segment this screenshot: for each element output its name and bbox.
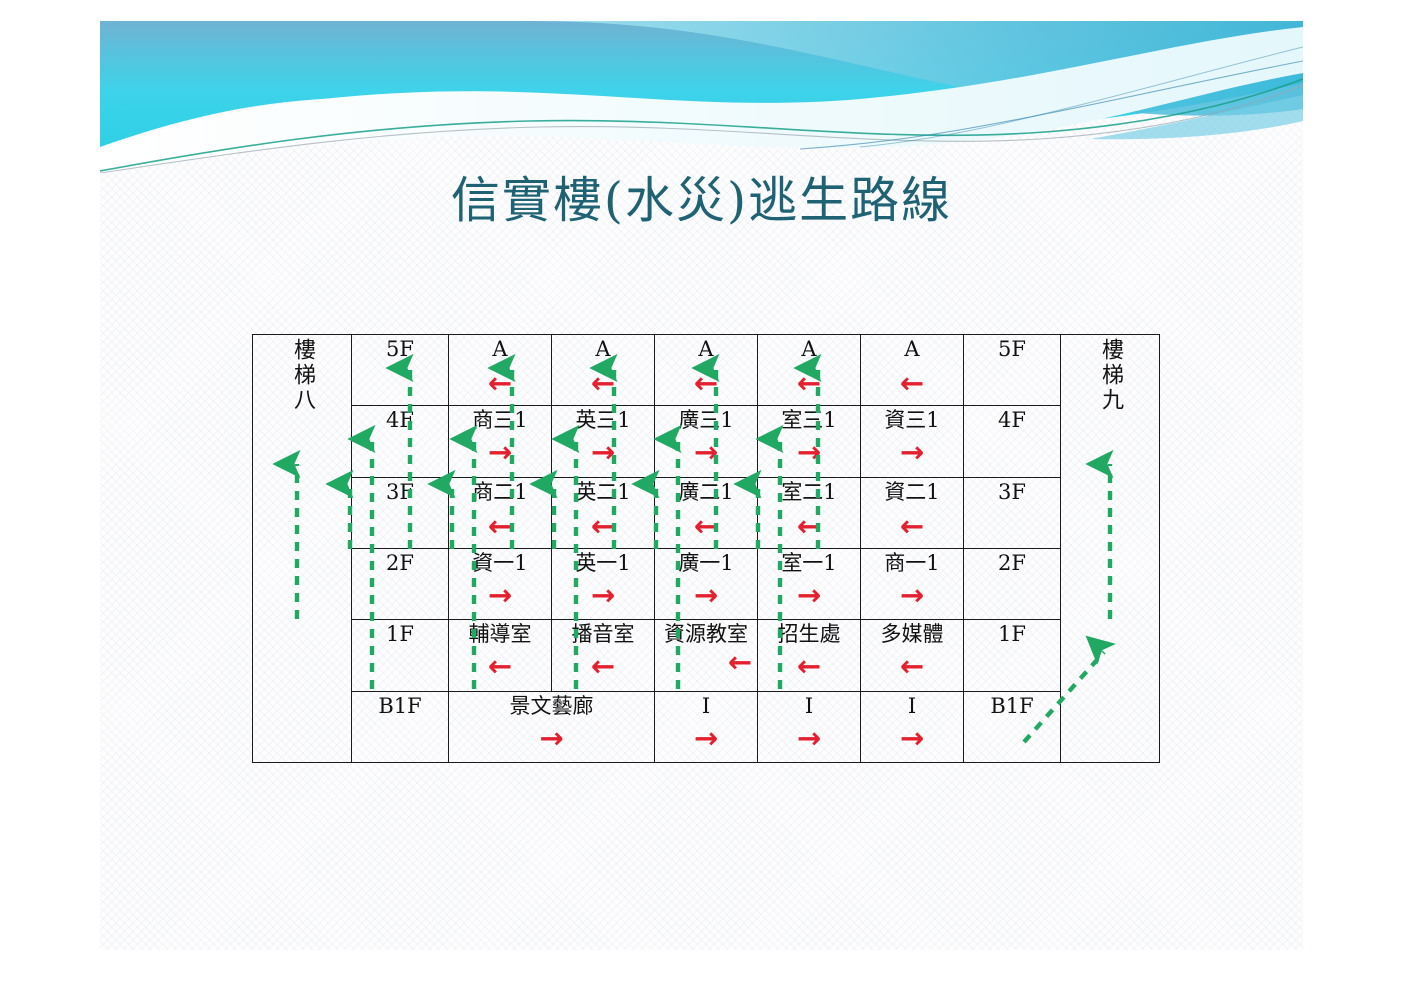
red-arrow-right: → bbox=[552, 581, 654, 610]
floor-label-right-2f: 2F bbox=[964, 548, 1061, 619]
room-cell-4f-3: 廣三1 → bbox=[655, 406, 758, 477]
red-arrow-right: → bbox=[449, 438, 551, 467]
red-arrow-right: → bbox=[861, 438, 963, 467]
room-cell-3f-4: 室二1 ← bbox=[758, 477, 861, 548]
red-arrow-right: → bbox=[861, 581, 963, 610]
red-arrow-left: ← bbox=[861, 512, 963, 541]
room-cell-3f-1: 商二1 ← bbox=[449, 477, 552, 548]
red-arrow-right: → bbox=[655, 438, 757, 467]
room-cell-4f-1: 商三1 → bbox=[449, 406, 552, 477]
table-row: 3F 商二1 ← 英二1 ← 廣二1 ← 室二1 bbox=[253, 477, 1160, 548]
room-cell-5f-1: A ← bbox=[449, 335, 552, 406]
floor-label-right-5f: 5F bbox=[964, 335, 1061, 406]
table-row: B1F 景文藝廊 → I → I → I bbox=[253, 691, 1160, 762]
room-cell-b1f-gallery: 景文藝廊 → bbox=[449, 691, 655, 762]
room-cell-1f-3: 資源教室 ← bbox=[655, 620, 758, 691]
floor-label-left-b1f: B1F bbox=[352, 691, 449, 762]
header-banner-decoration bbox=[100, 21, 1303, 173]
room-cell-1f-2: 播音室 ← bbox=[552, 620, 655, 691]
floor-label-left-1f: 1F bbox=[352, 620, 449, 691]
red-arrow-left: ← bbox=[861, 652, 963, 681]
page-title: 信實樓(水災)逃生路線 bbox=[100, 161, 1303, 232]
red-arrow-right: → bbox=[758, 438, 860, 467]
room-cell-1f-4: 招生處 ← bbox=[758, 620, 861, 691]
red-arrow-left: ← bbox=[552, 652, 654, 681]
red-arrow-right: → bbox=[552, 438, 654, 467]
room-cell-3f-2: 英二1 ← bbox=[552, 477, 655, 548]
room-cell-5f-3: A ← bbox=[655, 335, 758, 406]
right-stairwell-cell: 樓梯九 bbox=[1061, 335, 1160, 763]
room-cell-2f-3: 廣一1 → bbox=[655, 548, 758, 619]
room-cell-3f-5: 資二1 ← bbox=[861, 477, 964, 548]
escape-route-table-container: 樓梯八 5F A ← A ← A ← bbox=[252, 334, 1152, 763]
table-row: 2F 資一1 → 英一1 → 廣一1 → 室一1 bbox=[253, 548, 1160, 619]
floor-label-right-4f: 4F bbox=[964, 406, 1061, 477]
red-arrow-left: ← bbox=[758, 512, 860, 541]
left-stairwell-label: 樓梯八 bbox=[286, 338, 318, 413]
red-arrow-right: → bbox=[758, 581, 860, 610]
room-cell-2f-2: 英一1 → bbox=[552, 548, 655, 619]
room-cell-1f-1: 輔導室 ← bbox=[449, 620, 552, 691]
red-arrow-left: ← bbox=[552, 369, 654, 398]
red-arrow-left: ← bbox=[655, 369, 757, 398]
room-cell-5f-5: A ← bbox=[861, 335, 964, 406]
table-row: 4F 商三1 → 英三1 → 廣三1 → 室三1 bbox=[253, 406, 1160, 477]
right-stairwell-label: 樓梯九 bbox=[1094, 338, 1126, 413]
floor-label-left-2f: 2F bbox=[352, 548, 449, 619]
slide-canvas: 信實樓(水災)逃生路線 樓梯八 5F A ← A bbox=[100, 21, 1303, 950]
room-cell-b1f-4: I → bbox=[861, 691, 964, 762]
room-cell-4f-2: 英三1 → bbox=[552, 406, 655, 477]
floor-label-left-4f: 4F bbox=[352, 406, 449, 477]
room-cell-3f-3: 廣二1 ← bbox=[655, 477, 758, 548]
red-arrow-right: → bbox=[655, 581, 757, 610]
red-arrow-right: → bbox=[449, 581, 551, 610]
room-cell-1f-5: 多媒體 ← bbox=[861, 620, 964, 691]
room-cell-b1f-2: I → bbox=[655, 691, 758, 762]
table-row: 樓梯八 5F A ← A ← A ← bbox=[253, 335, 1160, 406]
room-cell-5f-4: A ← bbox=[758, 335, 861, 406]
room-cell-2f-1: 資一1 → bbox=[449, 548, 552, 619]
red-arrow-left: ← bbox=[552, 512, 654, 541]
room-cell-2f-4: 室一1 → bbox=[758, 548, 861, 619]
red-arrow-left: ← bbox=[861, 369, 963, 398]
room-cell-5f-2: A ← bbox=[552, 335, 655, 406]
red-arrow-left: ← bbox=[758, 369, 860, 398]
red-arrow-left: ← bbox=[655, 512, 757, 541]
floor-label-right-b1f: B1F bbox=[964, 691, 1061, 762]
table-row: 1F 輔導室 ← 播音室 ← 資源教室 ← 招生處 bbox=[253, 620, 1160, 691]
floor-label-right-1f: 1F bbox=[964, 620, 1061, 691]
floor-label-left-3f: 3F bbox=[352, 477, 449, 548]
room-cell-4f-4: 室三1 → bbox=[758, 406, 861, 477]
red-arrow-right: → bbox=[758, 724, 860, 753]
room-cell-2f-5: 商一1 → bbox=[861, 548, 964, 619]
red-arrow-right: → bbox=[861, 724, 963, 753]
floor-label-right-3f: 3F bbox=[964, 477, 1061, 548]
room-cell-b1f-3: I → bbox=[758, 691, 861, 762]
floor-label-left-5f: 5F bbox=[352, 335, 449, 406]
room-cell-4f-5: 資三1 → bbox=[861, 406, 964, 477]
red-arrow-right: → bbox=[449, 724, 654, 753]
red-arrow-left: ← bbox=[449, 652, 551, 681]
red-arrow-left: ← bbox=[449, 369, 551, 398]
red-arrow-right: → bbox=[655, 724, 757, 753]
left-stairwell-cell: 樓梯八 bbox=[253, 335, 352, 763]
red-arrow-left: ← bbox=[449, 512, 551, 541]
red-arrow-left: ← bbox=[758, 652, 860, 681]
escape-route-table: 樓梯八 5F A ← A ← A ← bbox=[252, 334, 1160, 763]
